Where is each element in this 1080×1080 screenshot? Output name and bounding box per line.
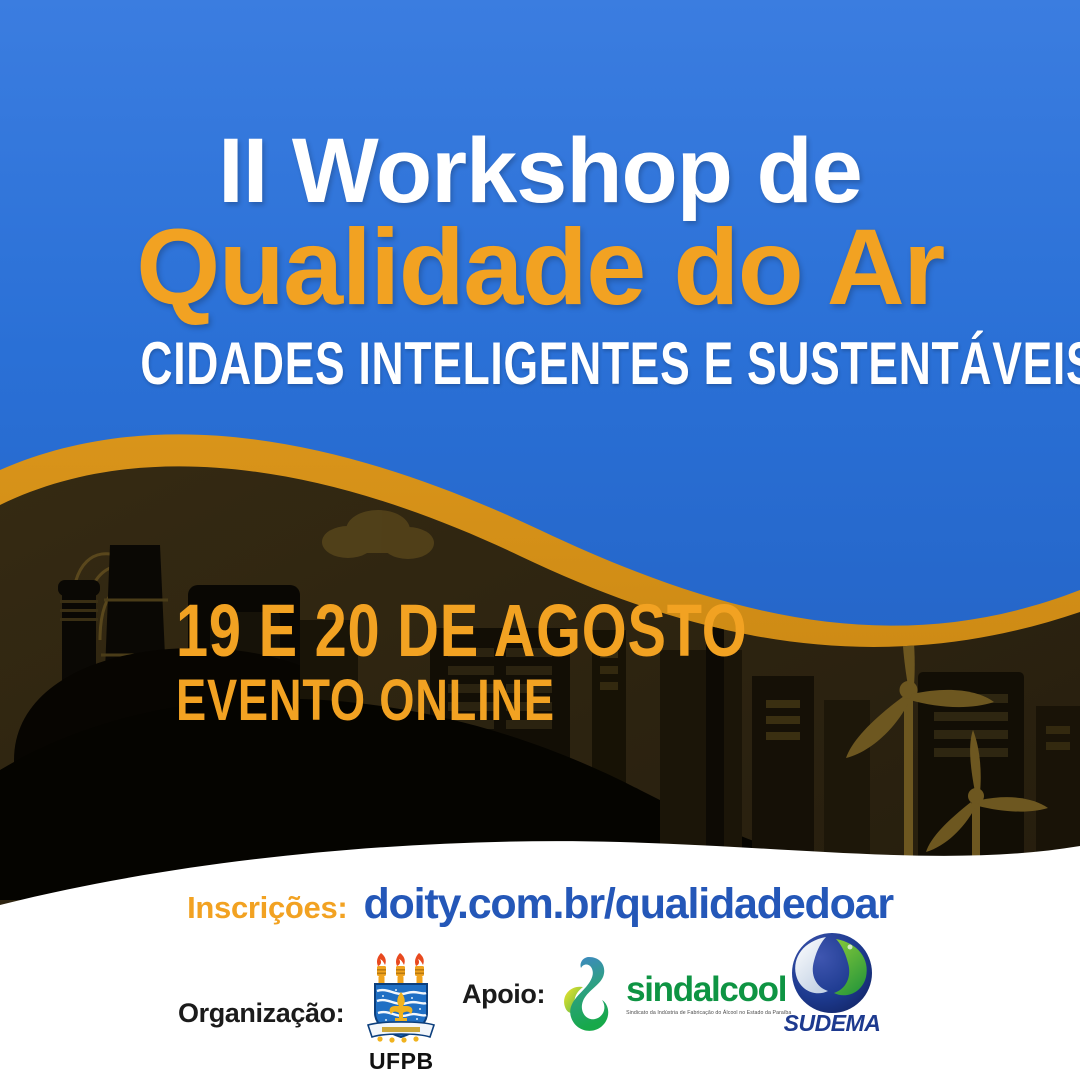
support-label: Apoio: — [462, 979, 545, 1010]
sindalcool-text: sindalcool Sindicato da Indústria de Fab… — [626, 972, 791, 1016]
sindalcool-tagline: Sindicato da Indústria de Fabricação do … — [626, 1010, 791, 1016]
sindalcool-name: sindalcool — [626, 972, 786, 1007]
event-date: 19 E 20 DE AGOSTO — [176, 596, 747, 666]
registration-url[interactable]: doity.com.br/qualidadedoar — [363, 880, 892, 929]
sudema-logo: SUDEMA — [778, 927, 886, 1039]
organizer-group: Organização: — [178, 951, 440, 1075]
ufpb-label: UFPB — [369, 1048, 434, 1075]
ufpb-logo: UFPB — [362, 951, 440, 1075]
event-date-block: 19 E 20 DE AGOSTO EVENTO ONLINE — [176, 596, 909, 730]
support-group: Apoio: — [462, 951, 791, 1037]
title-subtitle: CIDADES INTELIGENTES E SUSTENTÁVEIS — [140, 334, 939, 394]
sindalcool-mark-icon — [559, 951, 617, 1037]
sudema-group: SUDEMA — [778, 927, 886, 1039]
title-line-2: Qualidade do Ar — [0, 212, 1080, 322]
footer-logos: Organização: — [0, 955, 1080, 1080]
registration-line: Inscrições: doity.com.br/qualidadedoar — [0, 880, 1080, 929]
title-line-1: II Workshop de — [0, 126, 1080, 216]
registration-label: Inscrições: — [187, 890, 347, 926]
organizer-label: Organização: — [178, 998, 344, 1029]
event-format: EVENTO ONLINE — [176, 672, 747, 730]
sudema-wordmark: SUDEMA — [784, 1010, 881, 1036]
event-poster: II Workshop de Qualidade do Ar CIDADES I… — [0, 0, 1080, 1080]
ufpb-crest-icon — [362, 951, 440, 1047]
sindalcool-logo: sindalcool Sindicato da Indústria de Fab… — [559, 951, 791, 1037]
sudema-mark-icon: SUDEMA — [778, 927, 886, 1039]
headline-block: II Workshop de Qualidade do Ar CIDADES I… — [0, 126, 1080, 394]
